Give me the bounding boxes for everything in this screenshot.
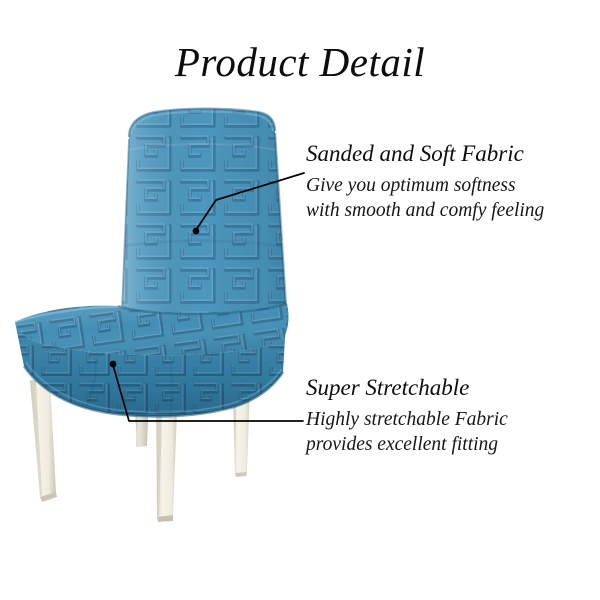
product-detail-page: Product Detail Sanded and Soft Fabric Gi… bbox=[0, 0, 600, 600]
chair-leg-front-left bbox=[30, 380, 57, 502]
chair-illustration bbox=[0, 0, 600, 600]
page-title: Product Detail bbox=[0, 38, 600, 86]
annotation-body: Give you optimum softness with smooth an… bbox=[306, 173, 544, 223]
annotation-body-line: Highly stretchable Fabric bbox=[306, 407, 508, 432]
annotation-headline: Sanded and Soft Fabric bbox=[306, 140, 544, 167]
annotation-body-line: provides excellent fitting bbox=[306, 432, 508, 457]
annotation-body: Highly stretchable Fabric provides excel… bbox=[306, 407, 508, 457]
annotation-headline: Super Stretchable bbox=[306, 374, 508, 401]
annotation-super-stretchable: Super Stretchable Highly stretchable Fab… bbox=[306, 374, 508, 457]
annotation-sanded-soft-fabric: Sanded and Soft Fabric Give you optimum … bbox=[306, 140, 544, 223]
annotation-body-line: Give you optimum softness bbox=[306, 173, 544, 198]
annotation-body-line: with smooth and comfy feeling bbox=[306, 198, 544, 223]
